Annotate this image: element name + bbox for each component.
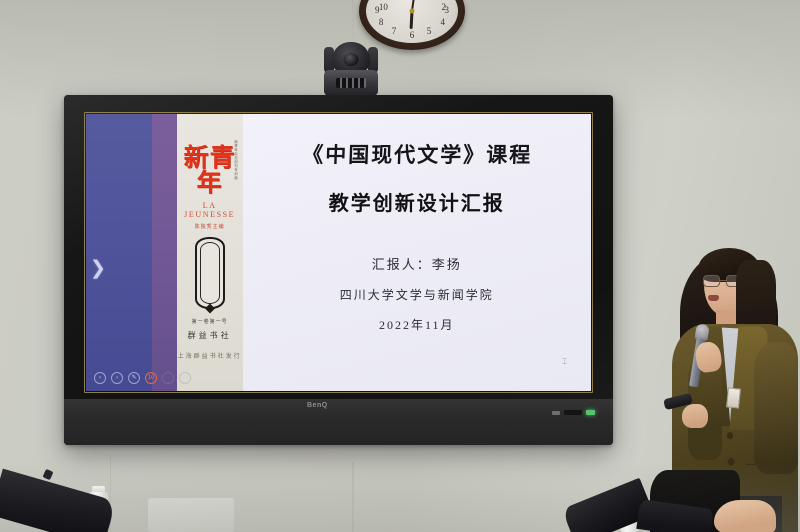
- display-ir-receiver-icon: [564, 410, 582, 415]
- camera-head: [332, 42, 370, 72]
- slide-meta-block: 汇报人：李扬 四川大学文学与新闻学院 2022年11月: [259, 254, 575, 333]
- magazine-subtitle: 陈独秀主编: [177, 223, 243, 230]
- clock-numeral: 10: [379, 3, 388, 12]
- clock-numeral: 5: [427, 27, 432, 36]
- slide-right-panel: 《中国现代文学》课程 教学创新设计汇报 汇报人：李扬 四川大学文学与新闻学院 2…: [243, 114, 591, 391]
- audience-hand: [714, 500, 776, 532]
- next-slide-chevron-icon[interactable]: ❯: [90, 259, 106, 278]
- prev-page-icon[interactable]: ‹: [94, 372, 106, 384]
- magazine-ornate-frame: [195, 237, 225, 309]
- display-control-strip[interactable]: [552, 410, 595, 415]
- more-options-icon[interactable]: ···: [179, 372, 191, 384]
- clock-pivot: [410, 9, 415, 14]
- magazine-cover-image: 新青年 LA JEUNESSE 陈独秀主编: [177, 114, 243, 391]
- magazine-toc-caption: 第一卷第一号: [177, 318, 243, 325]
- slide-institution-line: 四川大学文学与新闻学院: [259, 286, 575, 303]
- presenter-hand-holding-clicker: [682, 404, 708, 428]
- slide-left-panel: ❯ 新青年 LA JEUNESSE 陈独秀主编: [86, 114, 243, 391]
- presenter-mouth: [708, 295, 719, 301]
- slide-toolbar[interactable]: ‹ › ✎ 10 ◌ ···: [94, 372, 191, 384]
- magazine-title: 新青年: [177, 146, 243, 196]
- camera-vent: [336, 78, 366, 88]
- slide-band-purple: [152, 114, 177, 391]
- pen-annotate-icon[interactable]: ✎: [128, 372, 140, 384]
- presenter-badge: [726, 387, 741, 408]
- timer-icon[interactable]: 10: [145, 372, 157, 384]
- slide-cursor-icon: ⌶: [562, 357, 567, 367]
- clock-numeral: 7: [392, 27, 397, 36]
- classroom-scene: 12 1 2 3 4 5 6 7 8 9 10 11: [0, 0, 800, 532]
- slide-date-line: 2022年11月: [259, 316, 575, 333]
- magazine-romanized-title: LA JEUNESSE: [177, 201, 243, 219]
- slide-presenter-line: 汇报人：李扬: [259, 254, 575, 273]
- clock-numeral: 6: [410, 31, 415, 40]
- next-page-icon[interactable]: ›: [111, 372, 123, 384]
- jacket-button: [727, 432, 733, 438]
- clock-numeral: 3: [445, 6, 450, 15]
- display-screen[interactable]: ❯ 新青年 LA JEUNESSE 陈独秀主编: [86, 114, 591, 391]
- laser-pointer-icon[interactable]: ◌: [162, 372, 174, 384]
- display-brand-logo: BenQ: [307, 402, 328, 409]
- presentation-slide[interactable]: ❯ 新青年 LA JEUNESSE 陈独秀主编: [86, 114, 591, 391]
- magazine-side-note: 新青年杂志创刊号封面: [235, 140, 240, 180]
- clock-numeral: 8: [379, 18, 384, 27]
- camera-lens-icon: [344, 53, 359, 66]
- slide-title-line-2: 教学创新设计汇报: [259, 187, 575, 216]
- magazine-footer: 上海群益书社发行: [177, 351, 243, 360]
- magazine-frame-diamond: [205, 304, 215, 314]
- magazine-publisher: 群益书社: [177, 330, 243, 341]
- power-led-indicator: [586, 410, 595, 415]
- slide-band-blue: ❯: [86, 114, 152, 391]
- display-button-icon[interactable]: [552, 411, 560, 415]
- display-bottom-bezel: BenQ: [64, 399, 613, 445]
- clock-numeral: 4: [441, 18, 446, 27]
- interactive-flat-panel[interactable]: ❯ 新青年 LA JEUNESSE 陈独秀主编: [64, 95, 613, 445]
- desk-papers: [148, 498, 234, 532]
- camera-base: [324, 70, 378, 96]
- magazine-contents-columns: [206, 248, 214, 298]
- slide-title-line-1: 《中国现代文学》课程: [258, 144, 575, 167]
- presenter-arm-right: [754, 342, 798, 474]
